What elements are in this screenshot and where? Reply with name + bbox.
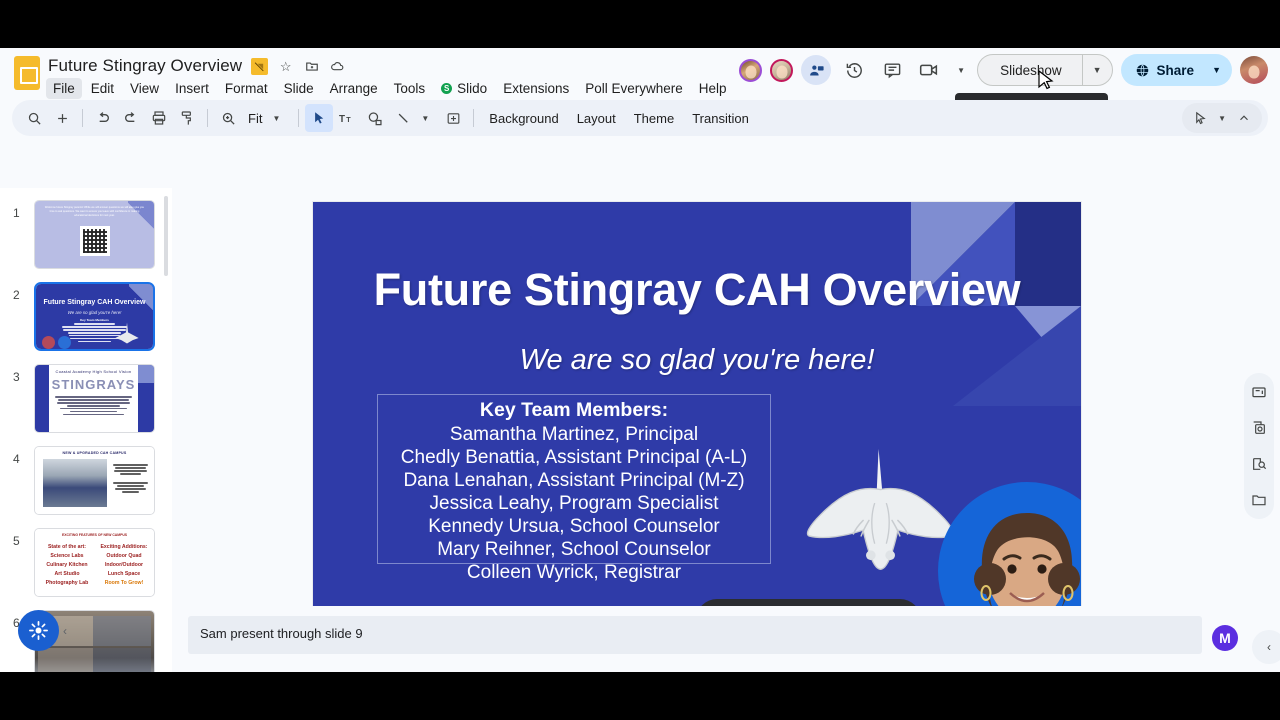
slide-thumbnail[interactable]: EXCITING FEATURES OF NEW CAMPUS State of… <box>34 528 155 597</box>
thumb-title: Future Stingray CAH Overview <box>36 299 153 306</box>
menu-insert[interactable]: Insert <box>168 78 216 99</box>
thumb-bullet-lines <box>113 463 148 494</box>
thumb-subtitle: We are so glad you're here! <box>36 310 153 315</box>
slide-number: 5 <box>13 534 20 548</box>
offline-pin-icon[interactable] <box>251 58 268 75</box>
slide-number: 3 <box>13 370 20 384</box>
member-line: Colleen Wyrick, Registrar <box>368 562 780 585</box>
comment-history-icon[interactable] <box>877 55 907 85</box>
filmstrip-item-3[interactable]: 3 Coastal Academy High School Vision STI… <box>0 358 172 439</box>
menu-bar: File Edit View Insert Format Slide Arran… <box>46 78 734 99</box>
app-header: Future Stingray Overview ☆ File Edit Vie… <box>0 48 1280 100</box>
mural-addon-button[interactable]: M <box>1212 625 1238 651</box>
filmstrip-item-1[interactable]: 1 Welcome future Stingray parents! While… <box>0 194 172 275</box>
account-avatar[interactable] <box>1240 56 1268 84</box>
toolbar-divider-4 <box>473 109 474 127</box>
filmstrip-item-5[interactable]: 5 EXCITING FEATURES OF NEW CAMPUS State … <box>0 522 172 603</box>
menu-edit[interactable]: Edit <box>84 78 121 99</box>
line-dropdown-caret-icon[interactable]: ▼ <box>417 114 433 123</box>
member-line: Jessica Leahy, Program Specialist <box>368 493 780 516</box>
share-button-group: Share ▼ <box>1121 54 1232 86</box>
slide-number: 1 <box>13 206 20 220</box>
insert-image-icon[interactable] <box>439 104 467 132</box>
zoom-level-label[interactable]: Fit <box>242 111 268 126</box>
slide-thumbnail[interactable]: Welcome future Stingray parents! While w… <box>34 200 155 269</box>
text-box-icon[interactable]: TT <box>333 104 361 132</box>
qr-code-icon <box>80 226 110 256</box>
select-cursor-icon[interactable] <box>305 104 333 132</box>
theme-button[interactable]: Theme <box>625 108 683 129</box>
calendar-icon[interactable] <box>1248 381 1270 403</box>
slide-number: 4 <box>13 452 20 466</box>
thumb-text: Welcome future Stingray parents! While w… <box>43 206 146 217</box>
menu-file[interactable]: File <box>46 78 82 99</box>
toolbar-divider-3 <box>298 109 299 127</box>
side-panel-rail <box>1244 373 1274 519</box>
line-icon[interactable] <box>389 104 417 132</box>
share-dropdown-caret-icon[interactable]: ▼ <box>1208 65 1232 75</box>
toolbar-right-group: ▼ <box>1182 103 1262 133</box>
slide-filmstrip[interactable]: 1 Welcome future Stingray parents! While… <box>0 188 172 672</box>
zoom-dropdown-caret-icon[interactable]: ▼ <box>268 114 284 123</box>
pointer-dropdown-caret-icon[interactable]: ▼ <box>1214 114 1230 123</box>
document-title-row: Future Stingray Overview ☆ <box>48 56 346 76</box>
thumb-watermark: STINGRAYS <box>51 377 136 392</box>
main-toolbar: Fit ▼ TT ▼ Background Layout Theme T <box>12 100 1268 136</box>
stingray-mascot-icon <box>114 322 140 344</box>
slido-badge-icon: S <box>441 83 452 94</box>
thumb-title: Coastal Academy High School Vision <box>51 369 136 374</box>
svg-text:T: T <box>346 114 351 123</box>
thumb-features-left: State of the art: Science Labs Culinary … <box>39 543 95 588</box>
laser-pointer-icon[interactable] <box>1186 104 1214 132</box>
version-history-icon[interactable] <box>839 55 869 85</box>
tasks-icon[interactable] <box>1248 453 1270 475</box>
page-title[interactable]: Future Stingray Overview <box>48 56 242 76</box>
slide-thumbnail[interactable]: Coastal Academy High School Vision STING… <box>34 364 155 433</box>
members-heading: Key Team Members: <box>368 399 780 422</box>
collapse-toolbar-icon[interactable] <box>1230 104 1258 132</box>
background-button[interactable]: Background <box>480 108 567 129</box>
svg-text:T: T <box>339 113 345 124</box>
collaborator-avatar-2[interactable] <box>770 59 793 82</box>
toolbar-divider-1 <box>82 109 83 127</box>
share-button-label: Share <box>1157 63 1195 78</box>
google-slides-icon[interactable] <box>14 56 40 90</box>
header-actions: ▼ Slideshow ▼ Share ▼ <box>739 54 1268 86</box>
cloud-saved-icon[interactable] <box>329 58 346 75</box>
transition-button[interactable]: Transition <box>683 108 758 129</box>
star-icon[interactable]: ☆ <box>277 58 294 75</box>
screen-root: Future Stingray Overview ☆ File Edit Vie… <box>0 0 1280 720</box>
member-line: Mary Reihner, School Counselor <box>368 539 780 562</box>
menu-poll-everywhere[interactable]: Poll Everywhere <box>578 78 690 99</box>
member-line: Samantha Martinez, Principal <box>368 424 780 447</box>
explore-icon <box>28 620 49 641</box>
menu-view[interactable]: View <box>123 78 166 99</box>
key-team-members-box[interactable]: Key Team Members: Samantha Martinez, Pri… <box>377 394 771 564</box>
google-slides-window: Future Stingray Overview ☆ File Edit Vie… <box>0 48 1280 672</box>
collapse-filmstrip-button[interactable]: ‹ <box>63 624 67 638</box>
redo-icon[interactable] <box>117 104 145 132</box>
menu-slido-label: Slido <box>457 81 487 96</box>
menu-slido[interactable]: S Slido <box>434 78 494 99</box>
member-line: Kennedy Ursua, School Counselor <box>368 516 780 539</box>
zoom-icon[interactable] <box>214 104 242 132</box>
speaker-notes-pane: Sam present through slide 9 <box>172 606 1280 672</box>
add-collaborator-icon[interactable] <box>801 55 831 85</box>
thumb-features-right: Exciting Additions: Outdoor Quad Indoor/… <box>98 543 150 588</box>
share-button[interactable]: Share <box>1121 63 1209 78</box>
new-slide-icon[interactable] <box>48 104 76 132</box>
print-icon[interactable] <box>145 104 173 132</box>
menu-format[interactable]: Format <box>218 78 275 99</box>
thumb-title: NEW & UPGRADED CAH CAMPUS <box>35 451 154 455</box>
current-slide[interactable]: Future Stingray CAH Overview We are so g… <box>313 202 1081 634</box>
member-line: Dana Lenahan, Assistant Principal (M-Z) <box>368 470 780 493</box>
slide-number: 2 <box>13 288 20 302</box>
slide-canvas-area: Future Stingray CAH Overview We are so g… <box>172 188 1280 606</box>
thumb-avatar-2 <box>58 336 71 349</box>
present-to-meeting-icon[interactable] <box>915 55 945 85</box>
keep-notes-icon[interactable] <box>1248 417 1270 439</box>
thumb-avatar-1 <box>42 336 55 349</box>
menu-arrange[interactable]: Arrange <box>323 78 385 99</box>
contacts-icon[interactable] <box>1248 489 1270 511</box>
thumb-campus-photo <box>43 459 107 507</box>
menu-extensions[interactable]: Extensions <box>496 78 576 99</box>
menu-help[interactable]: Help <box>692 78 734 99</box>
slide-thumbnail[interactable]: NEW & UPGRADED CAH CAMPUS <box>34 446 155 515</box>
toolbar-divider-2 <box>207 109 208 127</box>
layout-button[interactable]: Layout <box>568 108 625 129</box>
move-to-folder-icon[interactable] <box>303 58 320 75</box>
key-team-members-list: Key Team Members: Samantha Martinez, Pri… <box>368 399 780 585</box>
speaker-notes-text: Sam present through slide 9 <box>200 626 363 641</box>
thumb-corner-decoration <box>129 284 153 312</box>
slide-subtitle[interactable]: We are so glad you're here! <box>313 344 1081 377</box>
undo-icon[interactable] <box>89 104 117 132</box>
thumb-body-lines <box>55 395 132 417</box>
globe-lock-icon <box>1135 63 1150 78</box>
collaborator-avatar-1[interactable] <box>739 59 762 82</box>
editor-body: 1 Welcome future Stingray parents! While… <box>0 188 1280 672</box>
slide-title[interactable]: Future Stingray CAH Overview <box>313 264 1081 316</box>
collapse-side-panel-button[interactable]: ‹ <box>1252 630 1280 664</box>
search-icon[interactable] <box>20 104 48 132</box>
present-dropdown-caret-icon[interactable]: ▼ <box>953 66 969 75</box>
menu-tools[interactable]: Tools <box>387 78 433 99</box>
slideshow-button[interactable]: Slideshow <box>978 63 1082 78</box>
menu-slide[interactable]: Slide <box>277 78 321 99</box>
slide-thumbnail-selected[interactable]: Future Stingray CAH Overview We are so g… <box>34 282 155 351</box>
filmstrip-item-4[interactable]: 4 NEW & UPGRADED CAH CAMPUS <box>0 440 172 521</box>
thumb-title: EXCITING FEATURES OF NEW CAMPUS <box>35 533 154 537</box>
speaker-notes-field[interactable]: Sam present through slide 9 <box>188 616 1202 654</box>
shape-icon[interactable] <box>361 104 389 132</box>
slideshow-dropdown-caret-icon[interactable]: ▼ <box>1083 65 1112 75</box>
paint-format-icon[interactable] <box>173 104 201 132</box>
member-line: Chedly Benattia, Assistant Principal (A-… <box>368 447 780 470</box>
stingray-mascot-icon <box>803 447 958 592</box>
filmstrip-item-2[interactable]: 2 Future Stingray CAH Overview We are so… <box>0 276 172 357</box>
explore-button[interactable] <box>18 610 59 651</box>
